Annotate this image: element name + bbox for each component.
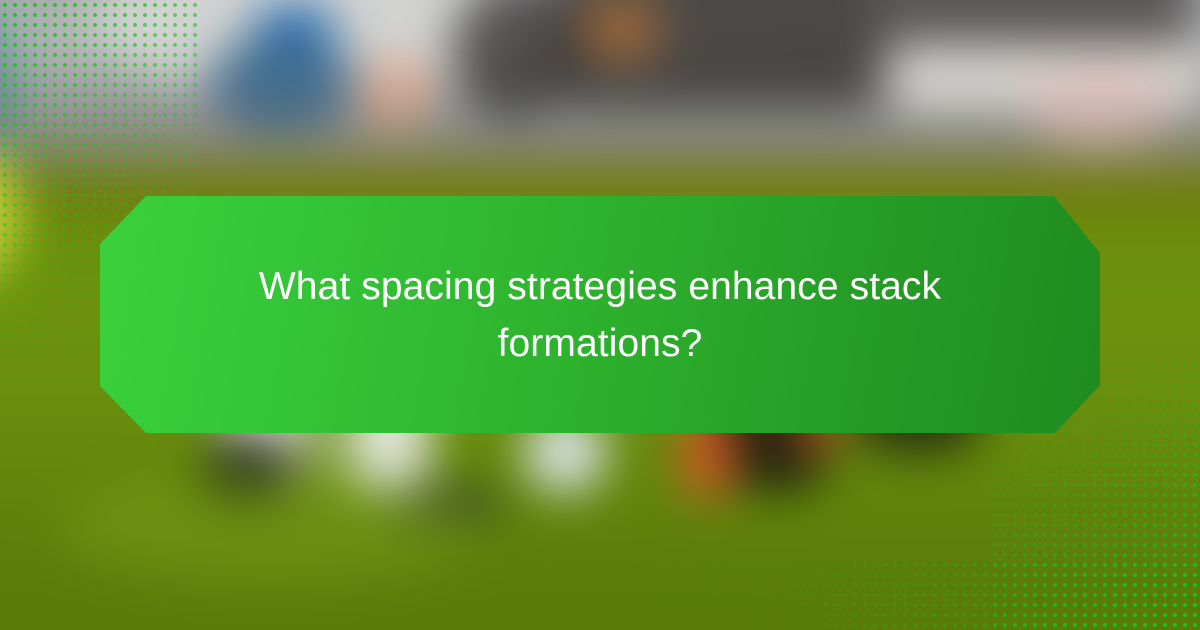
photo-blob-pink-right bbox=[1024, 66, 1172, 151]
photo-blob-pitch-highlight bbox=[59, 469, 483, 586]
headline-banner: What spacing strategies enhance stack fo… bbox=[100, 196, 1100, 433]
dot-grid-bottom-strip bbox=[600, 560, 1200, 630]
social-card: What spacing strategies enhance stack fo… bbox=[0, 0, 1200, 630]
photo-blob-spectator-body-blue bbox=[208, 34, 356, 129]
photo-blob-spectator-skin bbox=[358, 55, 432, 129]
page-title: What spacing strategies enhance stack fo… bbox=[220, 258, 980, 372]
